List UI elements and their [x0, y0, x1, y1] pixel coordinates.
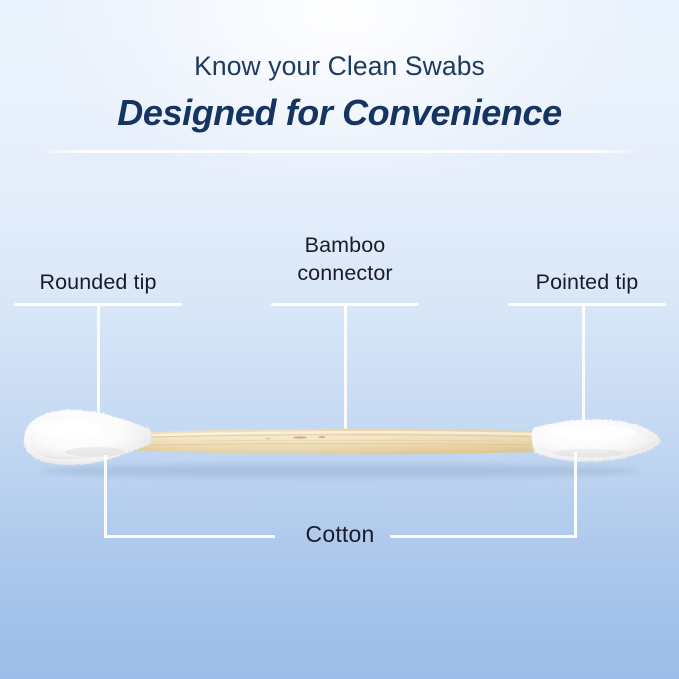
cotton-tip-rounded — [24, 410, 152, 465]
infographic-canvas: Know your Clean Swabs Designed for Conve… — [0, 0, 679, 679]
cotton-tip-rounded-core — [30, 417, 147, 459]
page-title: Designed for Convenience — [0, 94, 679, 133]
callout-label-pointed-tip: Pointed tip — [508, 268, 666, 296]
cotton-bracket-bar-left — [104, 535, 275, 538]
header: Know your Clean Swabs Designed for Conve… — [0, 0, 679, 133]
callout-label-rounded-tip: Rounded tip — [14, 268, 182, 296]
leader-line-rounded-tip — [97, 303, 100, 428]
kicker-text: Know your Clean Swabs — [0, 52, 679, 81]
cotton-bracket-bar-right — [390, 535, 577, 538]
header-divider — [38, 150, 641, 153]
bamboo-stick — [128, 429, 556, 455]
swab-shadow — [40, 464, 640, 478]
leader-line-pointed-tip — [582, 303, 585, 426]
cotton-tip-pointed-core — [538, 423, 656, 458]
cotton-bracket-left-leg — [104, 455, 107, 538]
cotton-tip-pointed — [532, 419, 661, 461]
callout-label-bamboo-connector: Bamboo connector — [271, 231, 419, 288]
cotton-bracket-right-leg — [574, 452, 577, 538]
callout-label-cotton: Cotton — [270, 521, 410, 548]
callout-underline-pointed-tip — [508, 303, 666, 306]
leader-line-bamboo-connector — [344, 303, 347, 431]
